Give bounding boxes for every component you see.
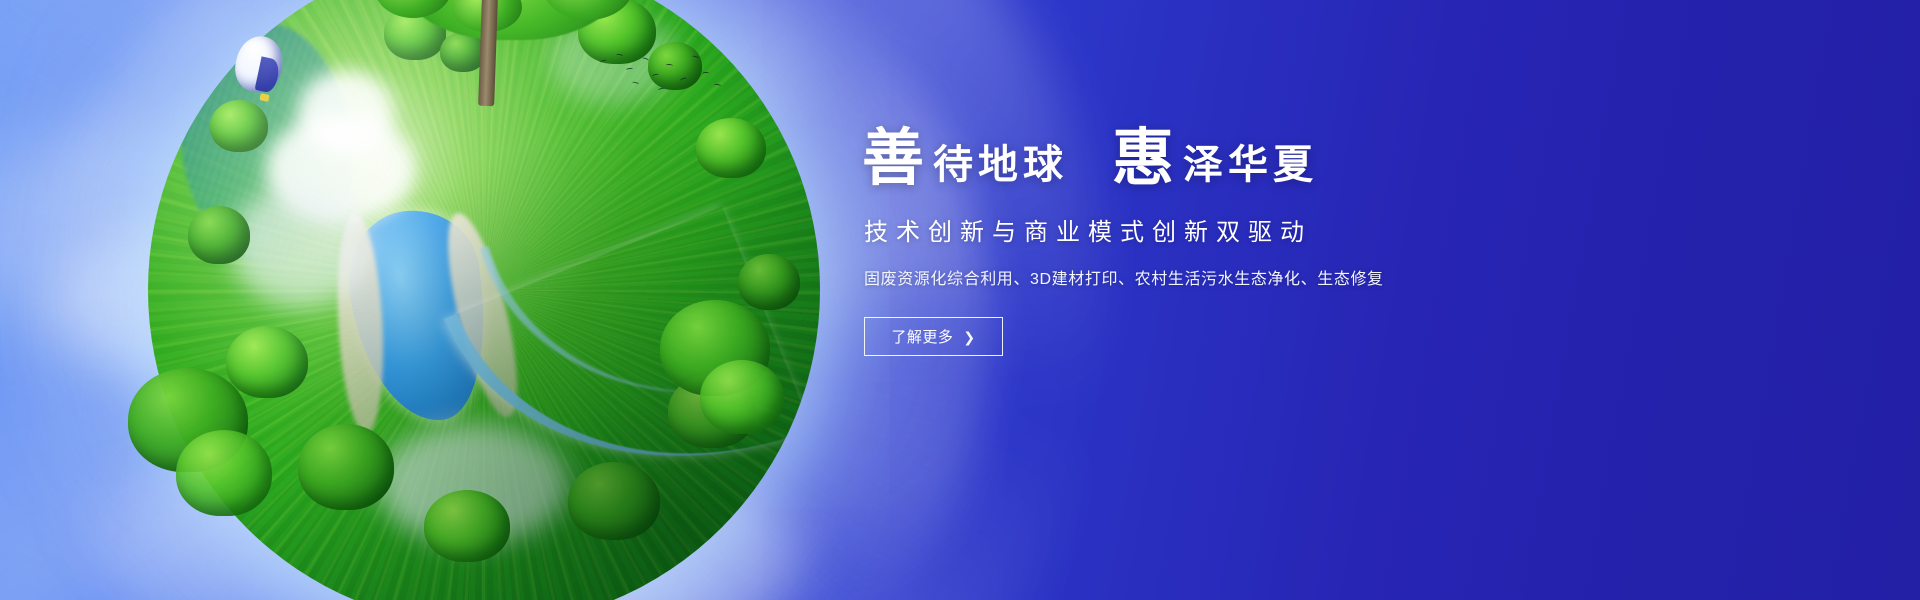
globe-cloud — [230, 186, 370, 306]
headline-part1-small: 待地球 — [933, 145, 1068, 185]
hero-description: 固废资源化综合利用、3D建材打印、农村生活污水生态净化、生态修复 — [864, 265, 1502, 289]
headline-part2-big: 惠 — [1112, 128, 1175, 190]
tree-icon — [226, 326, 308, 398]
chevron-right-icon: ❯ — [963, 330, 975, 344]
tree-trunk — [478, 0, 498, 106]
learn-more-button[interactable]: 了解更多 ❯ — [864, 317, 1003, 356]
tree-icon — [424, 490, 510, 562]
bird-flock-icon — [596, 52, 726, 98]
globe-cloud — [298, 70, 394, 156]
tree-icon — [176, 430, 272, 516]
tree-icon — [738, 254, 800, 310]
headline-part2-small: 泽华夏 — [1183, 145, 1318, 185]
tree-icon — [696, 118, 766, 178]
hero-subtitle: 技术创新与商业模式创新双驱动 — [864, 212, 1502, 247]
balloon-basket — [259, 93, 269, 102]
globe-cloud — [378, 424, 568, 544]
learn-more-label: 了解更多 — [891, 326, 953, 347]
hero-text-block: 善 待地球 惠 泽华夏 技术创新与商业模式创新双驱动 固废资源化综合利用、3D建… — [862, 128, 1502, 356]
balloon-envelope — [231, 32, 288, 96]
hero-banner: 善 待地球 惠 泽华夏 技术创新与商业模式创新双驱动 固废资源化综合利用、3D建… — [0, 0, 1920, 600]
page-title: 善 待地球 惠 泽华夏 — [862, 128, 1502, 190]
tree-icon — [700, 360, 784, 434]
headline-part1-big: 善 — [862, 128, 925, 190]
tree-icon — [188, 206, 250, 264]
tree-icon — [298, 424, 394, 510]
globe-cloud — [266, 114, 416, 224]
hot-air-balloon-icon — [236, 36, 282, 110]
lake-shape — [338, 201, 502, 431]
tree-icon — [568, 462, 660, 540]
